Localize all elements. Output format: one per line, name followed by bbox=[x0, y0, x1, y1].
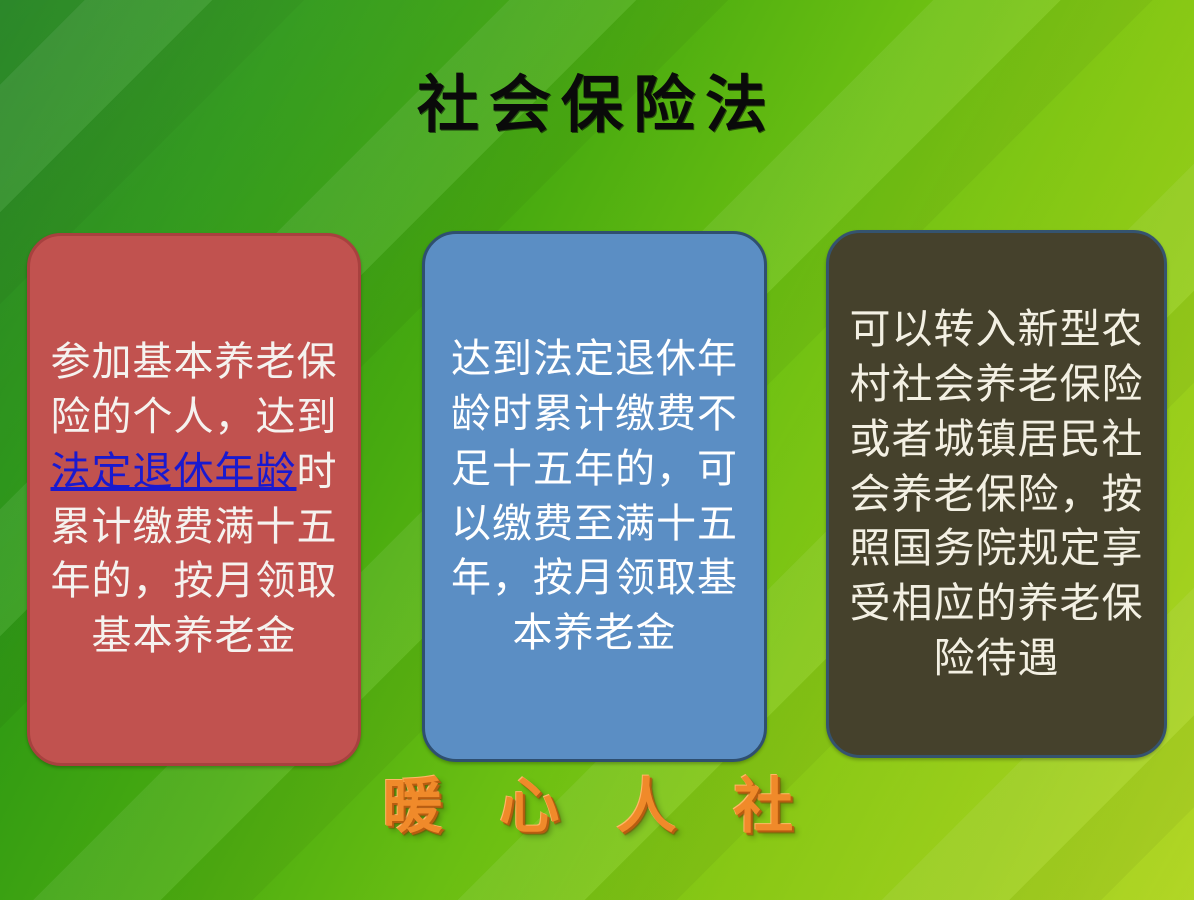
content-card-olive[interactable]: 可以转入新型农村社会养老保险或者城镇居民社会养老保险，按照国务院规定享受相应的养… bbox=[826, 230, 1167, 758]
slide-title: 社会保险法 bbox=[0, 72, 1194, 137]
presentation-slide: 社会保险法 参加基本养老保险的个人，达到法定退休年龄时累计缴费满十五年的，按月领… bbox=[0, 0, 1194, 900]
content-card-blue[interactable]: 达到法定退休年龄时累计缴费不足十五年的，可以缴费至满十五年，按月领取基本养老金 bbox=[422, 231, 767, 762]
card-red-text-before-link: 参加基本养老保险的个人，达到 bbox=[51, 339, 338, 439]
legal-retirement-age-link[interactable]: 法定退休年龄 bbox=[51, 449, 297, 494]
watermark-logo: 暖 心 人 社 bbox=[0, 758, 1194, 845]
content-card-red[interactable]: 参加基本养老保险的个人，达到法定退休年龄时累计缴费满十五年的，按月领取基本养老金 bbox=[27, 233, 361, 766]
card-olive-text: 可以转入新型农村社会养老保险或者城镇居民社会养老保险，按照国务院规定享受相应的养… bbox=[829, 302, 1164, 687]
card-blue-text: 达到法定退休年龄时累计缴费不足十五年的，可以缴费至满十五年，按月领取基本养老金 bbox=[425, 332, 764, 661]
card-red-text: 参加基本养老保险的个人，达到法定退休年龄时累计缴费满十五年的，按月领取基本养老金 bbox=[30, 335, 358, 664]
